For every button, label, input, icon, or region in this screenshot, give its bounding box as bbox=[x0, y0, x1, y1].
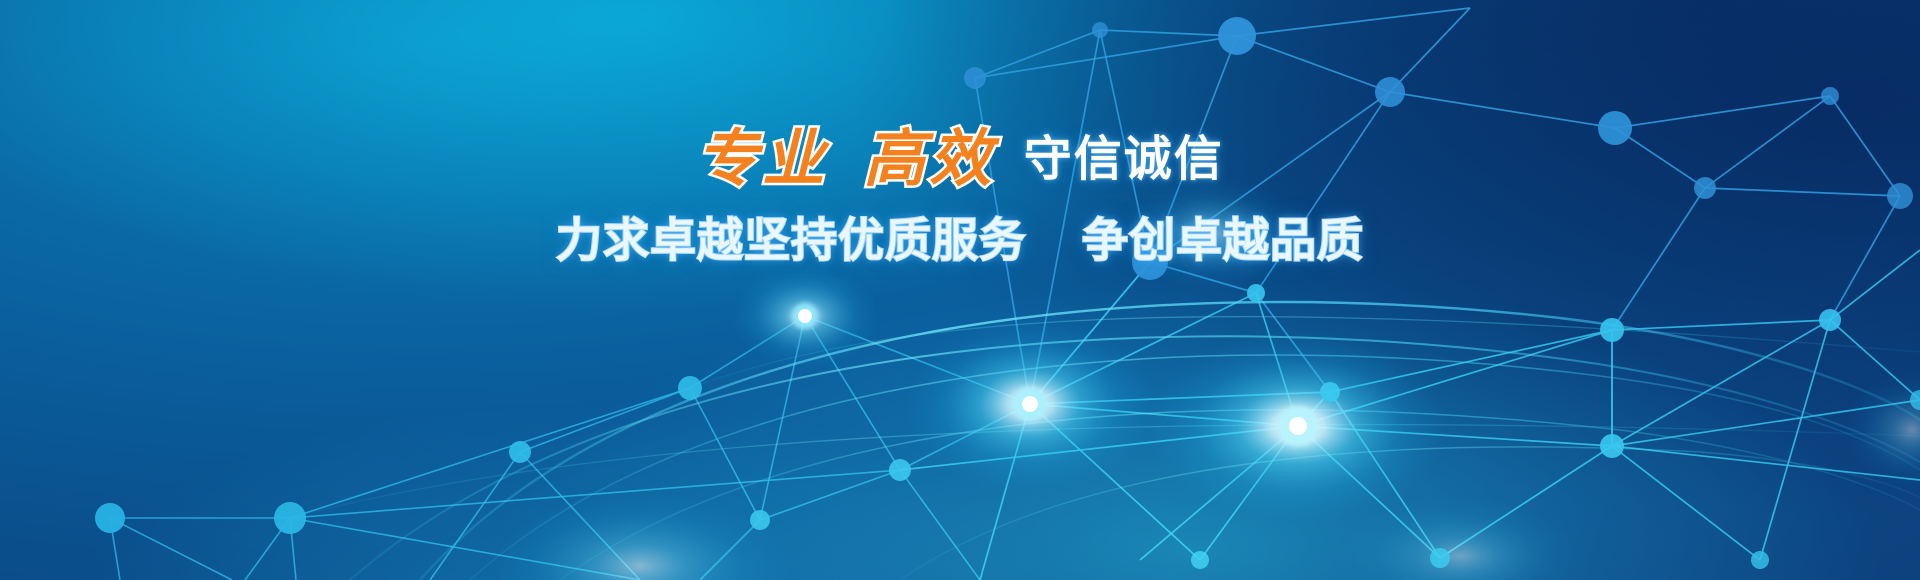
headline-white-segment: 守信诚信 bbox=[1024, 131, 1224, 187]
subline-part-1: 力求卓越坚持优质服务 bbox=[556, 213, 1026, 267]
slogan-text-block: 专业 高效 守信诚信 力求卓越坚持优质服务 争创卓越品质 bbox=[0, 128, 1920, 270]
subline-part-2: 争创卓越品质 bbox=[1082, 213, 1364, 267]
headline-orange-segment-1: 专业 bbox=[696, 122, 828, 195]
node-link-network-graphic bbox=[0, 0, 1920, 580]
hero-banner: 专业 高效 守信诚信 力求卓越坚持优质服务 争创卓越品质 bbox=[0, 0, 1920, 580]
subline: 力求卓越坚持优质服务 争创卓越品质 bbox=[0, 204, 1920, 270]
headline-line: 专业 高效 守信诚信 bbox=[696, 128, 1223, 190]
headline-orange-segment-2: 高效 bbox=[863, 122, 995, 195]
